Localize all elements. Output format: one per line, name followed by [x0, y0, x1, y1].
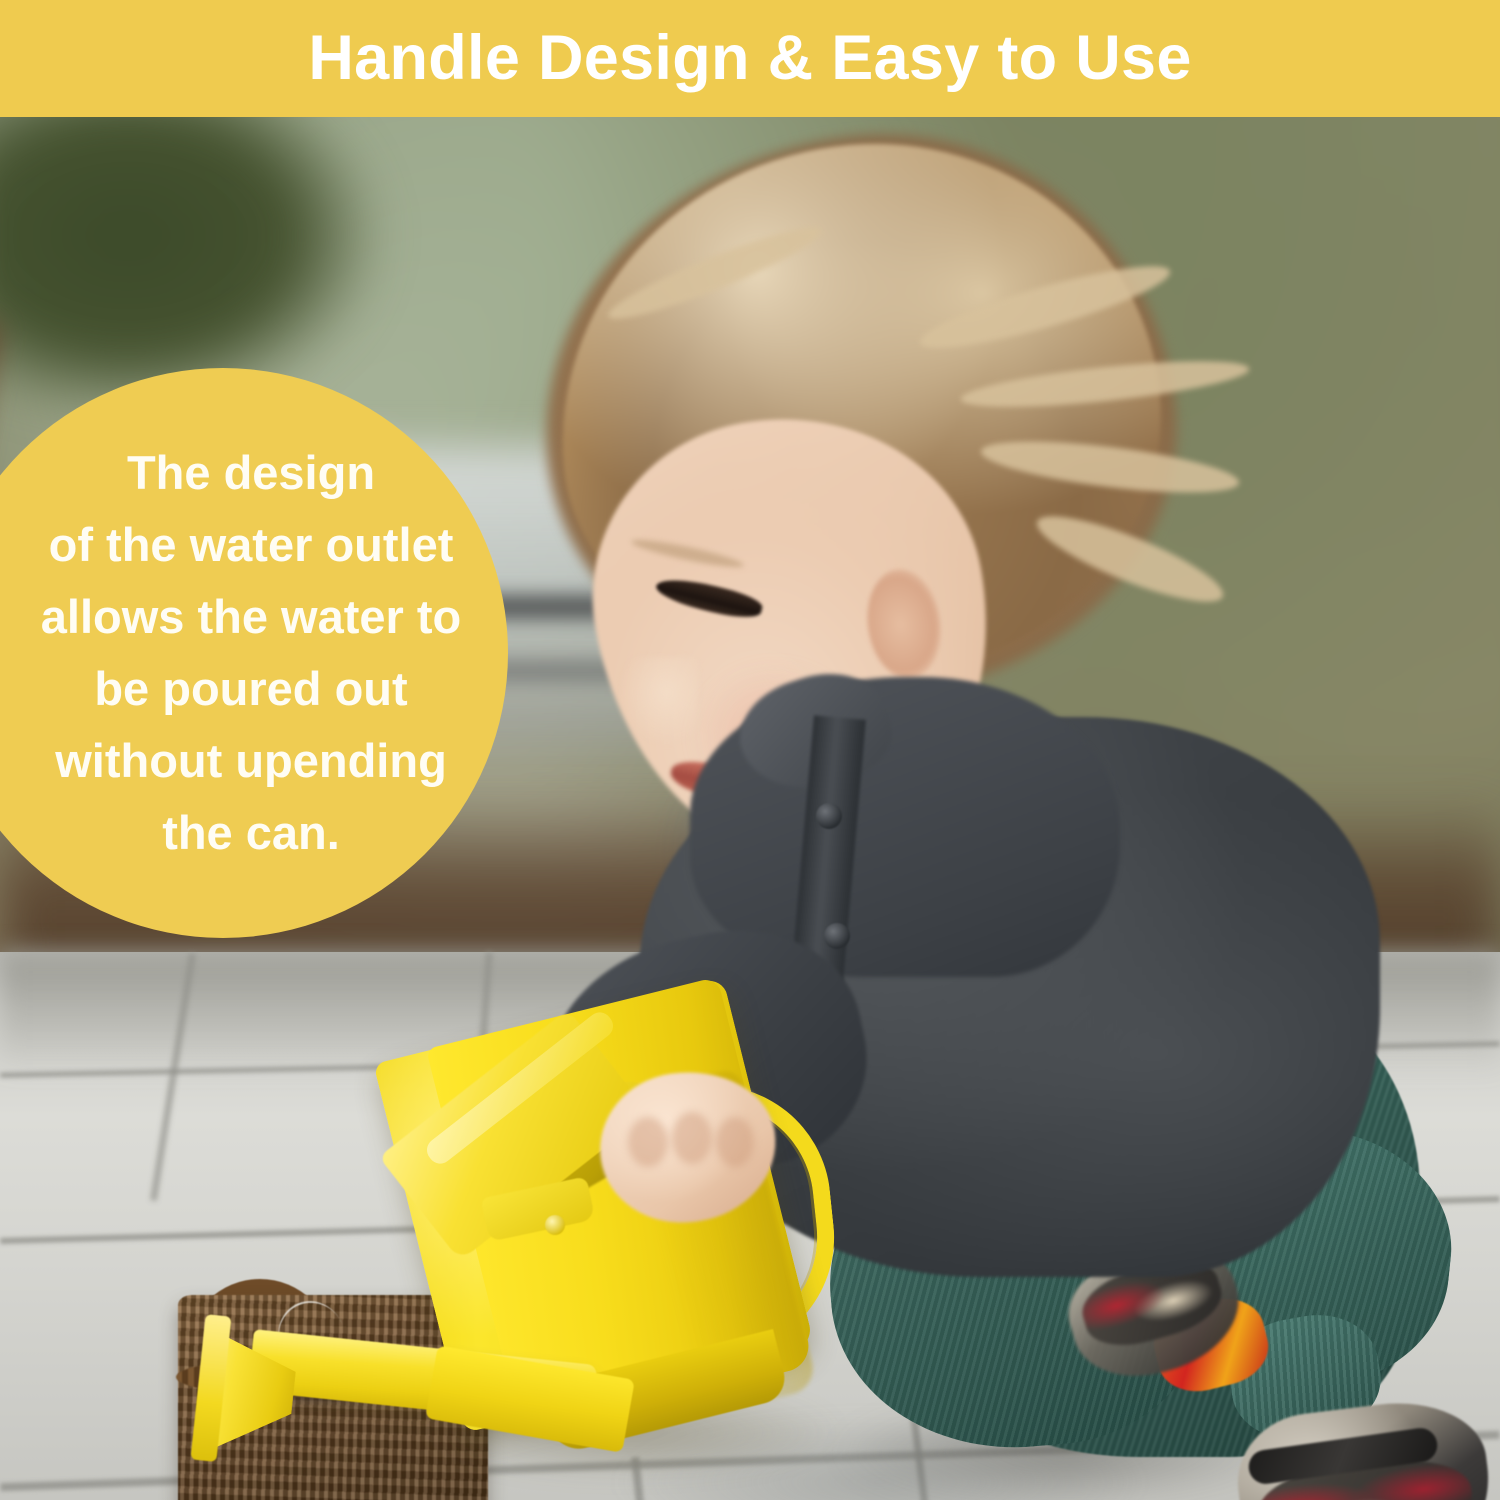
callout-line-2: of the water outlet	[1, 509, 501, 581]
callout-line-4: be poured out	[1, 653, 501, 725]
knuckle	[672, 1112, 712, 1164]
callout-line-5: without upending	[1, 725, 501, 797]
feature-callout-text: The design of the water outlet allows th…	[1, 437, 501, 869]
callout-line-6: the can.	[1, 797, 501, 869]
product-infographic: The design of the water outlet allows th…	[0, 0, 1500, 1500]
callout-line-3: allows the water to	[1, 581, 501, 653]
feature-callout-badge: The design of the water outlet allows th…	[0, 368, 508, 938]
banner-title: Handle Design & Easy to Use	[308, 27, 1191, 90]
header-banner: Handle Design & Easy to Use	[0, 0, 1500, 117]
callout-line-1: The design	[1, 437, 501, 509]
watering-can-rivet	[545, 1215, 565, 1235]
knuckle	[716, 1117, 754, 1167]
knuckle	[628, 1117, 668, 1167]
